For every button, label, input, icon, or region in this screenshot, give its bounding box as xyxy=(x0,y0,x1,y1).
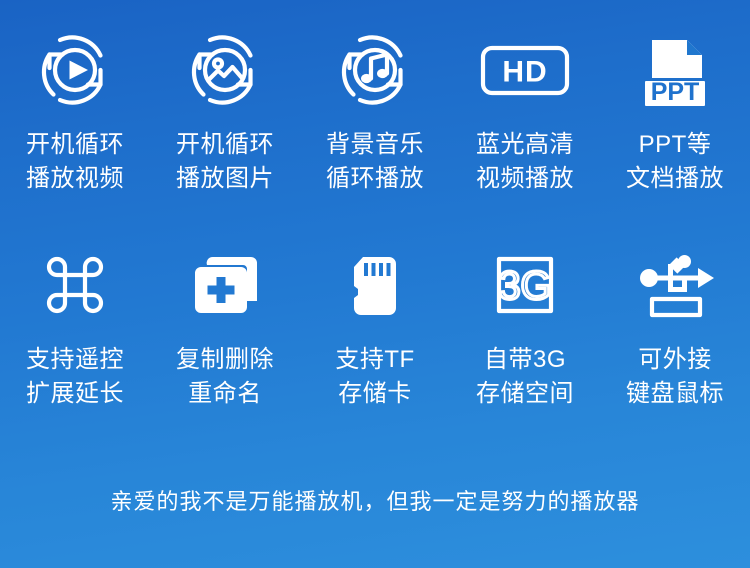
feature-cell-ppt-document[interactable]: PPT PPT等 文档播放 xyxy=(600,22,750,237)
feature-label: 复制删除 重命名 xyxy=(176,343,274,411)
feature-label-line2: 播放视频 xyxy=(26,162,124,196)
command-key-icon xyxy=(27,237,123,333)
feature-label-line2: 存储空间 xyxy=(476,377,574,411)
feature-label-line1: 复制删除 xyxy=(176,343,274,377)
feature-label: 蓝光高清 视频播放 xyxy=(476,128,574,196)
feature-label-line2: 视频播放 xyxy=(476,162,574,196)
hd-badge-text: HD xyxy=(502,56,547,89)
feature-cell-tf-card[interactable]: 支持TF 存储卡 xyxy=(300,237,450,452)
feature-label-line1: 背景音乐 xyxy=(326,128,424,162)
feature-label-line1: 蓝光高清 xyxy=(476,128,574,162)
3g-badge-icon: 3G xyxy=(477,237,573,333)
feature-label: 开机循环 播放视频 xyxy=(26,128,124,196)
copy-add-files-icon xyxy=(177,237,273,333)
loop-play-image-icon xyxy=(177,22,273,118)
feature-label-line2: 重命名 xyxy=(176,377,274,411)
feature-label-line2: 存储卡 xyxy=(335,377,414,411)
feature-label-line2: 文档播放 xyxy=(626,162,724,196)
hd-badge-icon: HD xyxy=(470,22,580,118)
feature-cell-usb-peripherals[interactable]: 可外接 键盘鼠标 xyxy=(600,237,750,452)
feature-label-line1: 可外接 xyxy=(626,343,724,377)
feature-label-line1: 支持遥控 xyxy=(26,343,124,377)
feature-label-line1: 支持TF xyxy=(335,343,414,377)
feature-cell-loop-play-video[interactable]: 开机循环 播放视频 xyxy=(0,22,150,237)
feature-label-line1: 开机循环 xyxy=(26,128,124,162)
feature-label: PPT等 文档播放 xyxy=(626,128,724,196)
feature-cell-loop-background-music[interactable]: 背景音乐 循环播放 xyxy=(300,22,450,237)
feature-label: 支持遥控 扩展延长 xyxy=(26,343,124,411)
feature-label-line1: 开机循环 xyxy=(176,128,274,162)
feature-label: 自带3G 存储空间 xyxy=(476,343,574,411)
feature-label: 支持TF 存储卡 xyxy=(335,343,414,411)
feature-label-line2: 播放图片 xyxy=(176,162,274,196)
feature-label-line2: 键盘鼠标 xyxy=(626,377,724,411)
feature-cell-hd-video[interactable]: HD 蓝光高清 视频播放 xyxy=(450,22,600,237)
feature-row-1: 开机循环 播放视频 xyxy=(0,22,750,237)
feature-label: 开机循环 播放图片 xyxy=(176,128,274,196)
poster-tagline: 亲爱的我不是万能播放机，但我一定是努力的播放器 xyxy=(0,487,750,517)
feature-label-line1: 自带3G xyxy=(476,343,574,377)
feature-label: 背景音乐 循环播放 xyxy=(326,128,424,196)
feature-grid: 开机循环 播放视频 xyxy=(0,22,750,452)
feature-label-line2: 扩展延长 xyxy=(26,377,124,411)
feature-cell-copy-delete-rename[interactable]: 复制删除 重命名 xyxy=(150,237,300,452)
3g-badge-text: 3G xyxy=(498,264,551,308)
usb-port-icon xyxy=(620,237,730,333)
tf-memory-card-icon xyxy=(327,237,423,333)
loop-background-music-icon xyxy=(327,22,423,118)
feature-cell-remote-control[interactable]: 支持遥控 扩展延长 xyxy=(0,237,150,452)
feature-label-line1: PPT等 xyxy=(626,128,724,162)
ppt-badge-text: PPT xyxy=(651,78,700,106)
feature-label: 可外接 键盘鼠标 xyxy=(626,343,724,411)
feature-cell-3g-storage[interactable]: 3G 自带3G 存储空间 xyxy=(450,237,600,452)
feature-cell-loop-play-image[interactable]: 开机循环 播放图片 xyxy=(150,22,300,237)
feature-label-line2: 循环播放 xyxy=(326,162,424,196)
ppt-document-icon: PPT xyxy=(627,22,723,118)
loop-play-video-icon xyxy=(27,22,123,118)
product-feature-poster: 开机循环 播放视频 xyxy=(0,0,750,568)
feature-row-2: 支持遥控 扩展延长 复制删除 重命名 xyxy=(0,237,750,452)
